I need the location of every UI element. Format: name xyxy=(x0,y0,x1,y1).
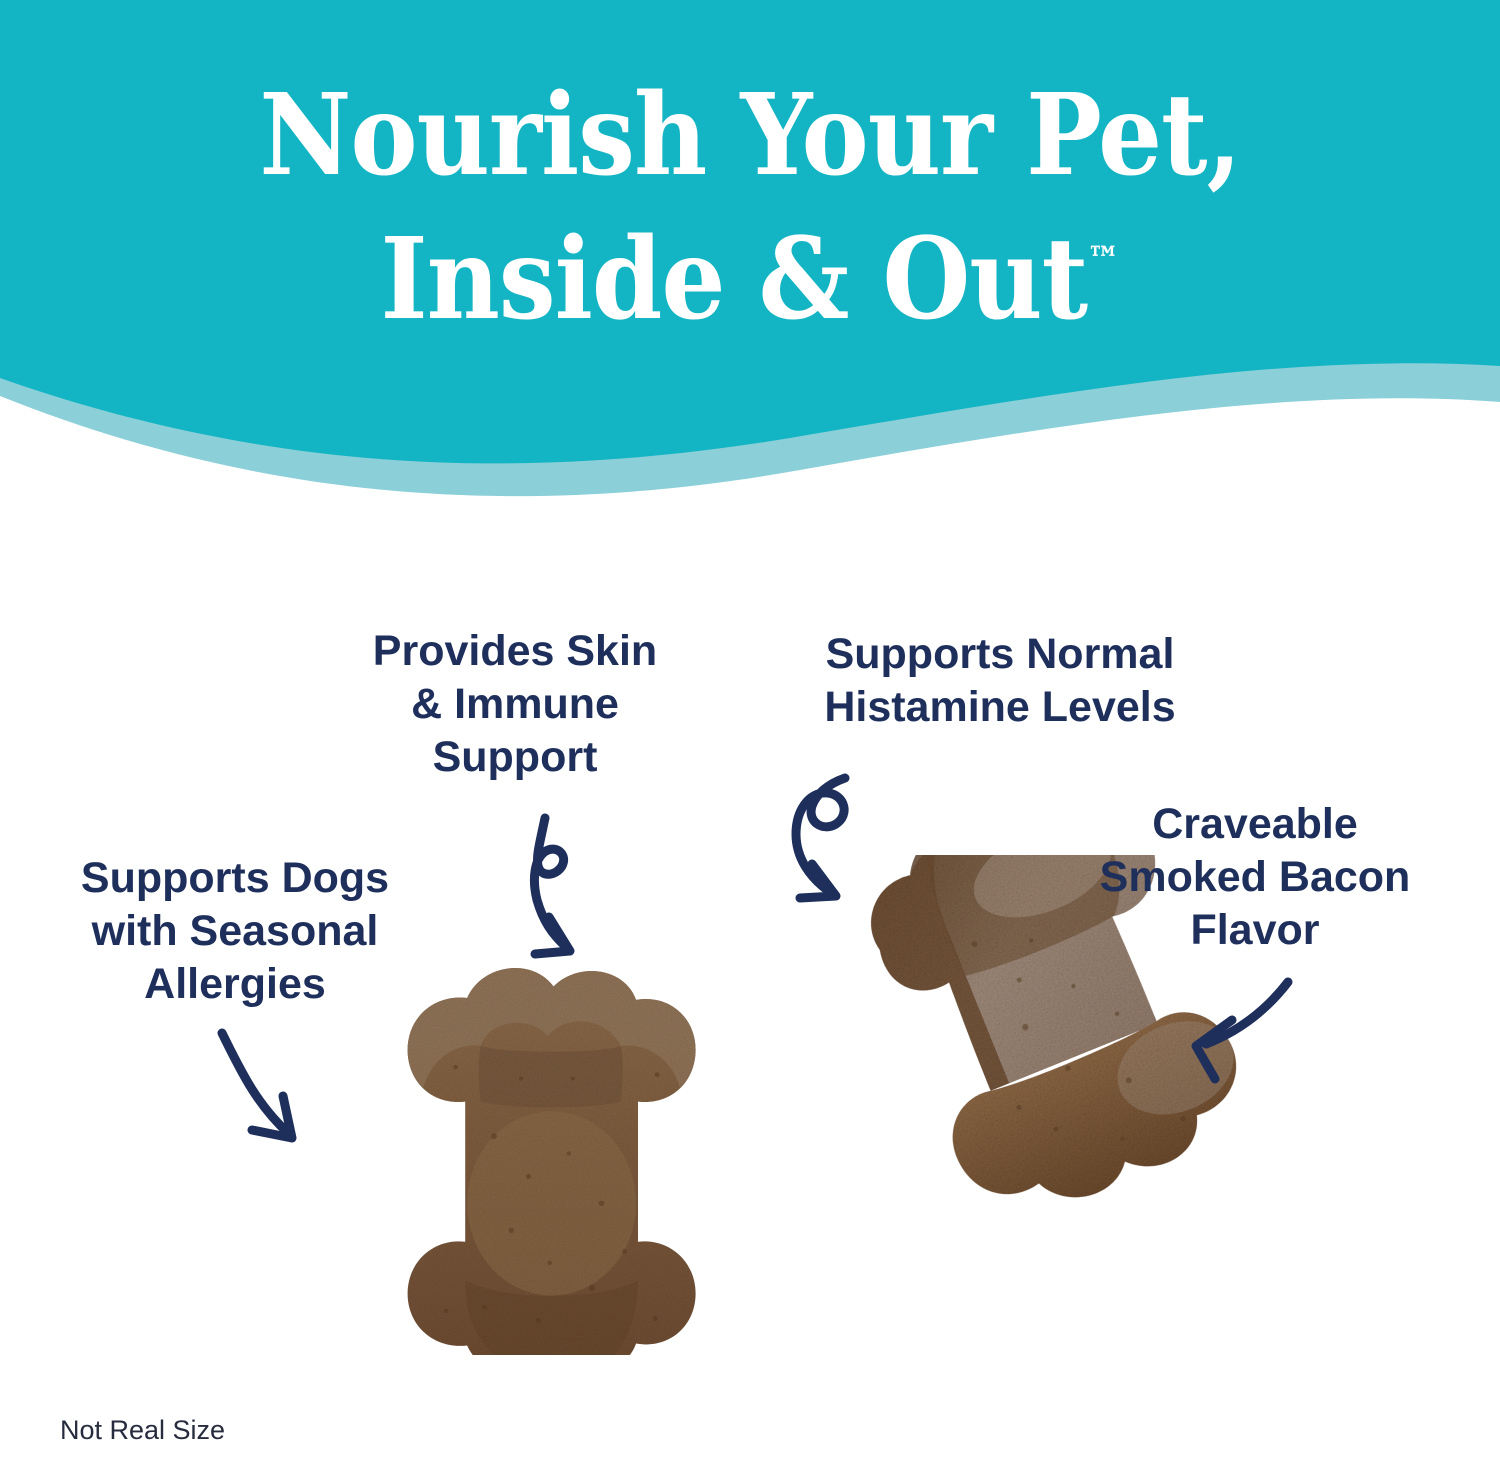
callout-line: Craveable xyxy=(1040,798,1470,851)
callout-craveable-smoked-bacon-flavor: Craveable Smoked Bacon Flavor xyxy=(1040,798,1470,957)
treat-front-left xyxy=(408,968,696,1355)
callout-line: Provides Skin xyxy=(325,625,705,678)
product-infographic: Nourish Your Pet, Inside & Out™ Supports… xyxy=(0,0,1500,1469)
callout-supports-dogs-with-seasonal-allergies: Supports Dogs with Seasonal Allergies xyxy=(25,852,445,1011)
callout-line: Smoked Bacon xyxy=(1040,851,1470,904)
arrow-allergies xyxy=(222,1033,292,1138)
callout-line: & Immune xyxy=(325,678,705,731)
headline-line-1: Nourish Your Pet, xyxy=(0,74,1500,198)
callout-line: Allergies xyxy=(25,958,445,1011)
callout-supports-normal-histamine-levels: Supports Normal Histamine Levels xyxy=(760,628,1240,734)
callout-line: Supports Normal xyxy=(760,628,1240,681)
callout-provides-skin-and-immune-support: Provides Skin & Immune Support xyxy=(325,625,705,784)
callout-line: Histamine Levels xyxy=(760,681,1240,734)
headline-line-2: Inside & Out xyxy=(380,214,1087,345)
callout-line: with Seasonal xyxy=(25,905,445,958)
callout-line: Supports Dogs xyxy=(25,852,445,905)
header-banner: Nourish Your Pet, Inside & Out™ xyxy=(0,0,1500,500)
callout-line: Support xyxy=(325,731,705,784)
trademark-symbol: ™ xyxy=(1087,239,1119,281)
callout-line: Flavor xyxy=(1040,904,1470,957)
headline-line-2-wrap: Inside & Out™ xyxy=(0,198,1500,342)
not-real-size-disclaimer: Not Real Size xyxy=(60,1413,225,1447)
page-title: Nourish Your Pet, Inside & Out™ xyxy=(0,74,1500,342)
